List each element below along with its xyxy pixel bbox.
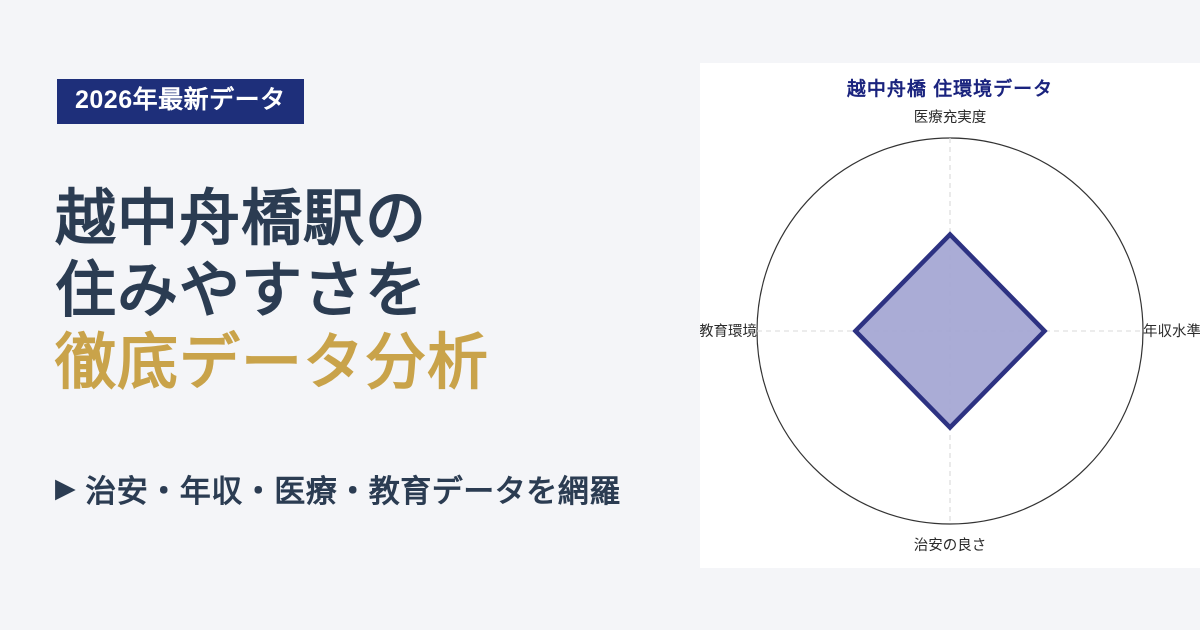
subtitle-label: 治安・年収・医療・教育データを網羅 [85, 466, 621, 511]
date-badge-label: 2026年最新データ [75, 86, 286, 114]
axis-label-safety: 治安の良さ [914, 537, 987, 554]
axis-label-medical: 医療充実度 [914, 109, 987, 126]
triangle-right-icon: ▶ [55, 475, 76, 502]
radar-data-polygon [855, 235, 1044, 428]
headline-line-1: 越中舟橋駅の [55, 183, 695, 255]
date-badge: 2026年最新データ [57, 79, 304, 124]
radar-chart: 医療充実度 年収水準 治安の良さ 教育環境 [700, 63, 1200, 568]
axis-label-education: 教育環境 [700, 322, 757, 340]
page-title: 越中舟橋駅の 住みやすさを 徹底データ分析 [55, 183, 695, 399]
headline-line-2: 住みやすさを [55, 255, 695, 327]
left-text-column: 2026年最新データ 越中舟橋駅の 住みやすさを 徹底データ分析 ▶ 治安・年収… [0, 0, 700, 630]
headline-line-3: 徹底データ分析 [55, 327, 695, 399]
subtitle: ▶ 治安・年収・医療・教育データを網羅 [55, 466, 621, 511]
infographic-canvas: 2026年最新データ 越中舟橋駅の 住みやすさを 徹底データ分析 ▶ 治安・年収… [0, 0, 1200, 630]
axis-label-income: 年収水準 [1143, 323, 1200, 340]
chart-panel: 越中舟橋 住環境データ 医療充実度 年収水準 治安の良さ 教育環境 [700, 63, 1200, 568]
